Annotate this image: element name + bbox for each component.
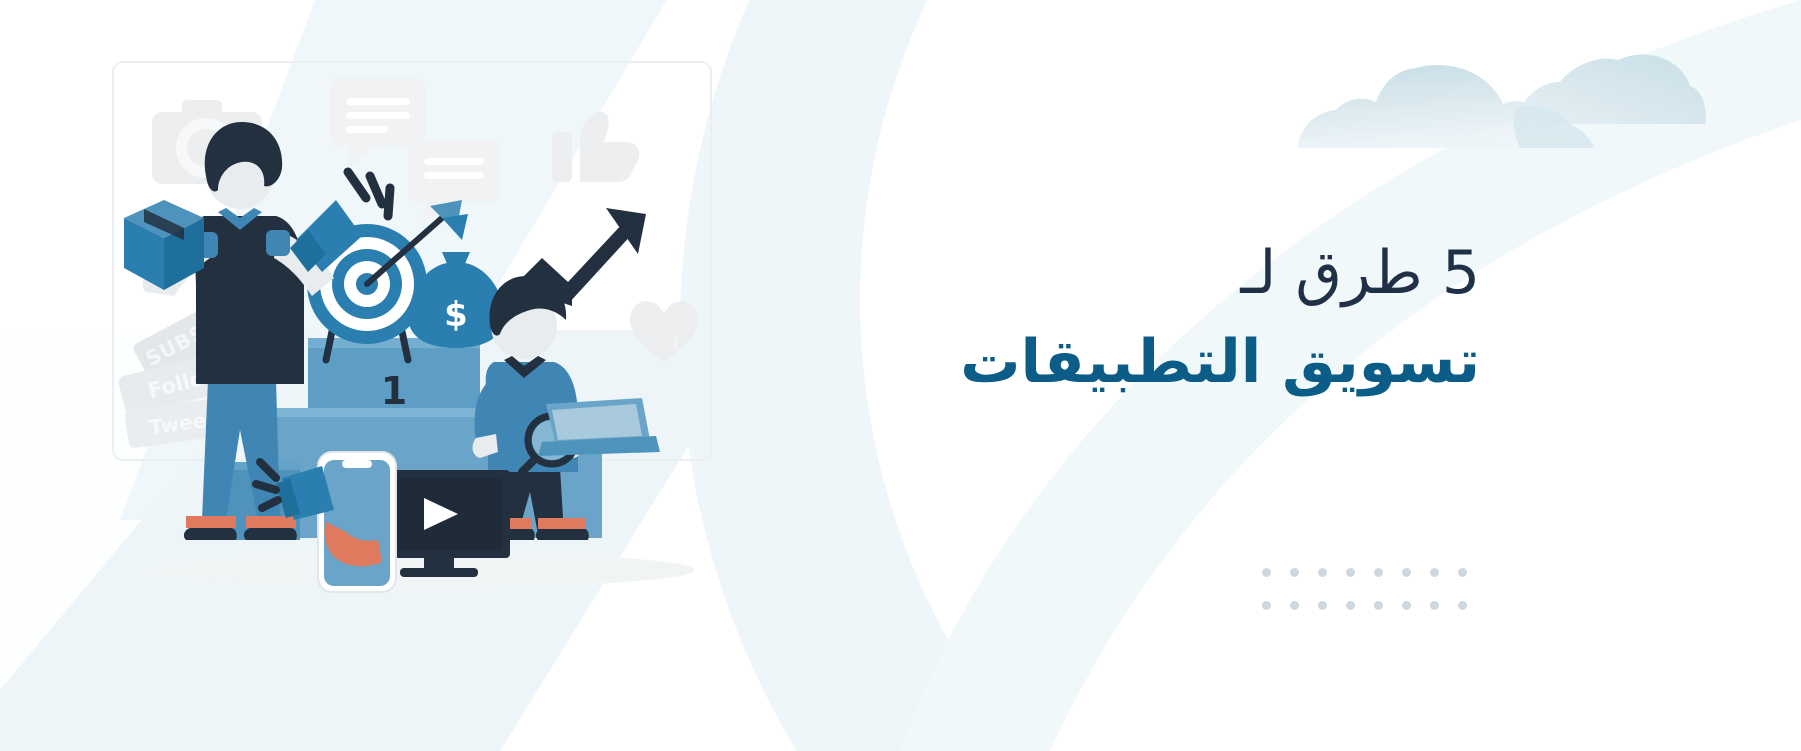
grid-dot bbox=[1318, 568, 1327, 577]
laptop-icon bbox=[538, 398, 660, 456]
package-box-icon bbox=[124, 200, 204, 290]
grid-dot bbox=[1290, 568, 1299, 577]
grid-dot bbox=[1430, 601, 1439, 610]
grid-dot bbox=[1262, 601, 1271, 610]
podium-number: 1 bbox=[381, 369, 407, 413]
headline-line-1: 5 طرق لـ bbox=[900, 236, 1480, 311]
grid-dot bbox=[1346, 601, 1355, 610]
grid-dot bbox=[1290, 601, 1299, 610]
heart-icon: i bbox=[630, 301, 698, 362]
thumbs-up-icon bbox=[552, 112, 639, 182]
grid-dot bbox=[1262, 568, 1271, 577]
grid-dot bbox=[1402, 601, 1411, 610]
grid-dot bbox=[1374, 568, 1383, 577]
headline-line-2: تسويق التطبيقات bbox=[900, 323, 1480, 401]
app-marketing-illustration: i SUBSCRIBE Follow Tweet bbox=[90, 0, 770, 640]
grid-dot bbox=[1402, 568, 1411, 577]
cloud-icon bbox=[1288, 38, 1708, 173]
headline-block: 5 طرق لـ تسويق التطبيقات bbox=[900, 236, 1480, 401]
grid-dot bbox=[1346, 568, 1355, 577]
svg-text:$: $ bbox=[444, 295, 468, 335]
grid-dot bbox=[1318, 601, 1327, 610]
grid-dot bbox=[1458, 601, 1467, 610]
grid-dot bbox=[1458, 568, 1467, 577]
marketing-banner: i SUBSCRIBE Follow Tweet bbox=[0, 0, 1801, 751]
grid-dot bbox=[1374, 601, 1383, 610]
svg-text:i: i bbox=[673, 332, 678, 353]
grid-dot bbox=[1430, 568, 1439, 577]
dot-grid bbox=[1252, 556, 1476, 622]
